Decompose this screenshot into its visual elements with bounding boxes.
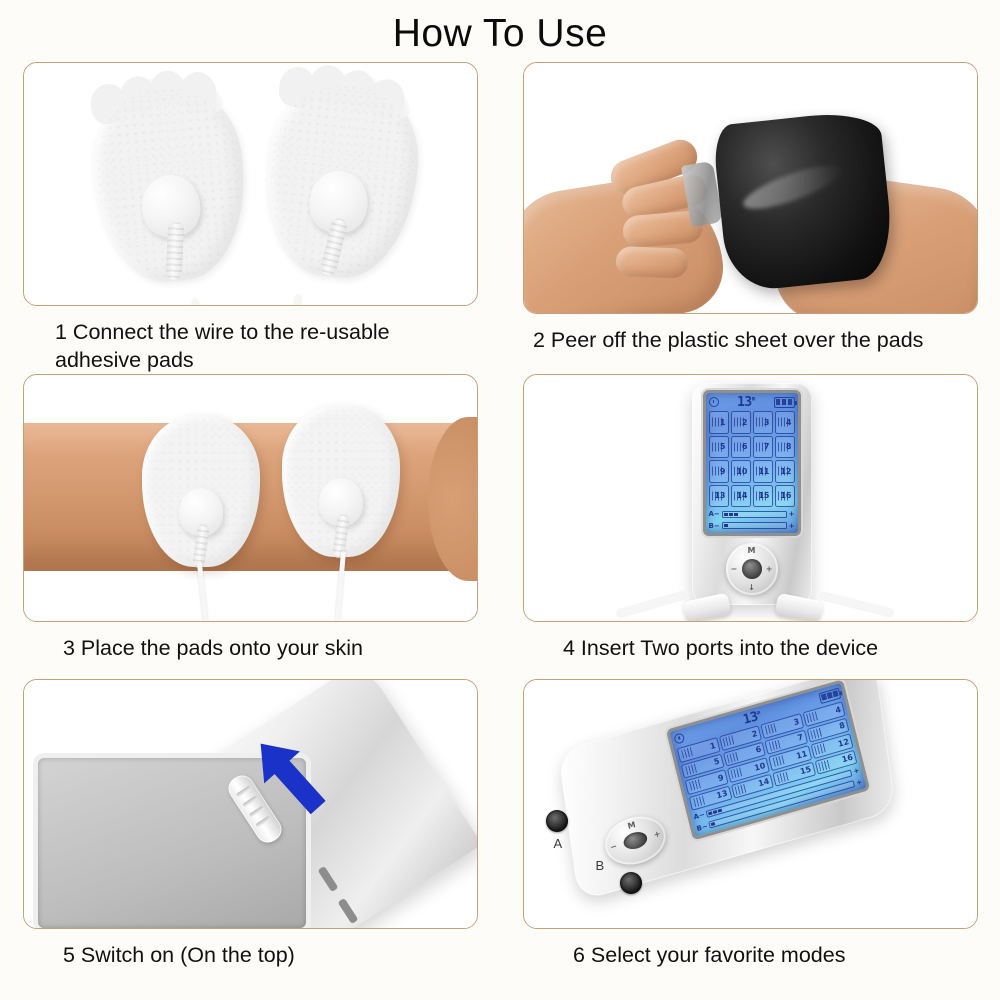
channel-a-plus: + [789,510,795,518]
output-port-b[interactable] [620,872,642,894]
electrode-pad-right [256,74,426,285]
channel-a-label: A− [709,510,720,518]
channel-b-level [722,522,787,529]
mode-button-label[interactable]: M [748,546,756,555]
page-title: How To Use [0,0,1000,62]
mode-cell[interactable]: 1 [709,411,729,434]
step-caption-3: 3 Place the pads onto your skin [15,634,485,662]
step-card-6: 13m 1 2 3 4 5 6 7 8 9 [500,679,1000,996]
channel-row-b: B− + [709,521,795,531]
mode-cell[interactable]: 16 [775,485,795,508]
center-select-button-angled[interactable] [621,829,648,851]
battery-icon [818,687,841,703]
decrease-button-label[interactable]: − [731,565,738,574]
step-card-1: 1 Connect the wire to the re-usable adhe… [0,62,500,374]
channel-row-a: A− + [709,509,795,519]
step-card-5: 5 Switch on (On the top) [0,679,500,996]
step-caption-1: 1 Connect the wire to the re-usable adhe… [15,318,485,374]
clock-icon [709,397,719,407]
black-plastic-sheet [711,109,896,294]
pad-wire-right [288,295,301,306]
mode-cell[interactable]: 14 [731,485,751,508]
mode-cell[interactable]: 3 [753,411,773,434]
peel-sheet-illustration [524,63,977,313]
lcd-timer-value-angled: 13m [741,709,761,727]
device-screen-offstate [38,758,306,928]
increase-button-label[interactable]: + [652,829,661,840]
mode-cell[interactable]: 12 [775,460,795,483]
decrease-button-label[interactable]: − [609,842,618,853]
channel-b-label: B− [695,822,708,833]
channel-a-label: A− [692,811,705,822]
mode-cell[interactable]: 15 [753,485,773,508]
battery-icon [774,397,795,408]
lcd-status-bar: 13m [709,395,795,409]
tens-device-body: 13m 1 2 3 4 5 6 7 8 9 [692,383,812,605]
lcd-timer-value: 13m [737,396,755,409]
steps-grid: 1 Connect the wire to the re-usable adhe… [0,62,1000,996]
mode-cell[interactable]: 9 [709,460,729,483]
step-image-panel-3 [23,374,478,622]
output-port-a[interactable] [546,810,568,832]
pad-wire-neck-left [165,222,184,281]
increase-button-label[interactable]: + [766,565,773,574]
sheet-highlight [739,157,846,217]
mode-cell[interactable]: 8 [775,436,795,459]
mode-cell[interactable]: 11 [753,460,773,483]
device-lcd-screen[interactable]: 13m 1 2 3 4 5 6 7 8 9 [706,393,798,533]
device-lcd-screen-angled[interactable]: 13m 1 2 3 4 5 6 7 8 9 [669,683,866,837]
step-image-panel-2 [523,62,978,314]
navigation-pad[interactable]: M − + ↓ [726,543,778,595]
mode-button-label[interactable]: M [626,820,636,831]
applied-pad-left [142,415,260,567]
step-caption-2: 2 Peer off the plastic sheet over the pa… [515,326,985,354]
channel-a-level [722,511,787,518]
down-button-label[interactable]: ↓ [748,583,755,592]
mode-cell[interactable]: 2 [731,411,751,434]
step-card-4: 13m 1 2 3 4 5 6 7 8 9 [500,374,1000,679]
plug-right [774,593,823,622]
channel-b-plus: + [855,778,863,787]
step-image-panel-6: 13m 1 2 3 4 5 6 7 8 9 [523,679,978,929]
mode-cell[interactable]: 4 [775,411,795,434]
clock-icon [673,732,685,744]
step-image-panel-1 [23,62,478,306]
port-b-label: B [596,858,605,873]
channel-a-plus: + [852,766,860,775]
step-image-panel-5 [23,679,478,929]
port-a-label: A [554,836,563,851]
mode-cell[interactable]: 13 [709,485,729,508]
step-card-2: 2 Peer off the plastic sheet over the pa… [500,62,1000,374]
step-caption-6: 6 Select your favorite modes [515,941,985,969]
tens-device-body-angled: 13m 1 2 3 4 5 6 7 8 9 [557,679,895,901]
center-select-button[interactable] [742,559,762,579]
pad-wire-left [191,299,205,306]
device-angled-illustration: 13m 1 2 3 4 5 6 7 8 9 [524,680,977,928]
cable-right [820,592,893,617]
mode-cell[interactable]: 5 [709,436,729,459]
lcd-channel-rows: A− + B− + [709,509,795,531]
cable-left [616,591,685,617]
power-switch-illustration [24,680,477,928]
step-caption-4: 4 Insert Two ports into the device [515,634,985,662]
channel-b-label: B− [709,522,720,530]
mode-cell[interactable]: 6 [731,436,751,459]
step-card-3: 3 Place the pads onto your skin [0,374,500,679]
lcd-mode-grid[interactable]: 1 2 3 4 5 6 7 8 9 10 11 12 13 [709,411,795,507]
applied-pad-right [282,405,400,557]
channel-b-plus: + [789,522,795,530]
electrode-pads-illustration [24,63,477,305]
device-upright-illustration: 13m 1 2 3 4 5 6 7 8 9 [524,375,977,621]
electrode-pad-left [85,79,252,287]
step-image-panel-4: 13m 1 2 3 4 5 6 7 8 9 [523,374,978,622]
step-caption-5: 5 Switch on (On the top) [15,941,485,969]
mode-cell[interactable]: 7 [753,436,773,459]
navigation-pad-angled[interactable]: M − + [600,810,671,872]
pads-on-arm-illustration [24,375,477,621]
plug-left [682,592,732,622]
mode-cell[interactable]: 10 [731,460,751,483]
